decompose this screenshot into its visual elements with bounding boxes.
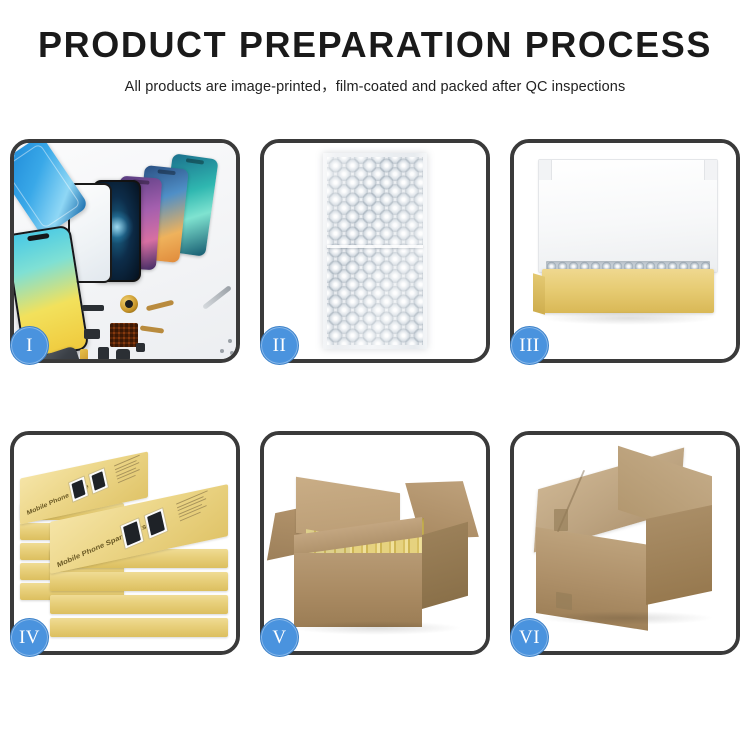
page-title: PRODUCT PREPARATION PROCESS	[0, 26, 750, 64]
step-badge-1: I	[10, 326, 49, 365]
step-1-image	[14, 143, 236, 359]
yellow-box-base	[542, 269, 714, 313]
step-panel-1: I	[10, 139, 240, 363]
step-panel-4: Mobile Phone Spare Parts Mobile Phone Sp…	[10, 431, 240, 655]
sim-tray-part	[80, 349, 88, 359]
box-screen-thumb	[68, 475, 89, 503]
step-6-image	[514, 435, 736, 651]
step-2-image	[264, 143, 486, 359]
carton-side-face	[422, 522, 468, 609]
stacked-box-edge	[50, 618, 228, 637]
product-preparation-infographic: PRODUCT PREPARATION PROCESS All products…	[0, 0, 750, 750]
box-stack: Mobile Phone Spare Parts Mobile Phone Sp…	[20, 451, 230, 641]
phone-notch	[186, 158, 205, 165]
stacked-box-edge	[50, 595, 228, 614]
header: PRODUCT PREPARATION PROCESS All products…	[0, 0, 750, 96]
ic-chip-part	[84, 329, 100, 339]
carton-tape-top	[554, 509, 568, 531]
screw-part	[230, 351, 234, 355]
process-steps-grid: I II III	[10, 139, 740, 679]
box-shadow	[540, 311, 716, 325]
carton-front-face	[294, 553, 422, 627]
box-screen-thumb	[144, 507, 169, 540]
button-part	[136, 343, 145, 352]
screw-part	[220, 349, 224, 353]
step-badge-6: VI	[510, 618, 549, 657]
flex-cable-part	[146, 300, 174, 312]
bubble-wrap-sheen	[323, 153, 427, 349]
chip-part	[82, 305, 104, 311]
step-3-image	[514, 143, 736, 359]
box-screen-thumb	[88, 467, 109, 495]
sealed-carton-side-face	[646, 505, 712, 605]
bubble-wrap-roll	[323, 153, 427, 349]
screw-part	[228, 339, 232, 343]
white-box-lid	[538, 159, 718, 273]
sealed-carton-shadow	[538, 611, 714, 625]
box-spec-lines	[176, 490, 212, 523]
step-panel-3: III	[510, 139, 740, 363]
step-badge-2: II	[260, 326, 299, 365]
step-panel-2: II	[260, 139, 490, 363]
phone-notch	[157, 169, 175, 175]
step-badge-4: IV	[10, 618, 49, 657]
carton-tape-bottom	[556, 592, 572, 611]
camera-module-part	[120, 295, 138, 313]
connector-grid-part	[110, 323, 138, 347]
vibrator-part	[98, 347, 109, 359]
step-4-image: Mobile Phone Spare Parts Mobile Phone Sp…	[14, 435, 236, 651]
step-5-image	[264, 435, 486, 651]
step-badge-5: V	[260, 618, 299, 657]
tweezers-tool	[202, 285, 232, 310]
page-subtitle: All products are image-printed，film-coat…	[0, 75, 750, 96]
step-badge-3: III	[510, 326, 549, 365]
box-spec-lines	[114, 455, 144, 485]
step-panel-5: V	[260, 431, 490, 655]
flex-cable-part	[140, 325, 164, 333]
speaker-part	[116, 349, 130, 359]
carton-shadow	[292, 621, 462, 635]
step-panel-6: VI	[510, 431, 740, 655]
stacked-box-edge	[50, 572, 228, 591]
